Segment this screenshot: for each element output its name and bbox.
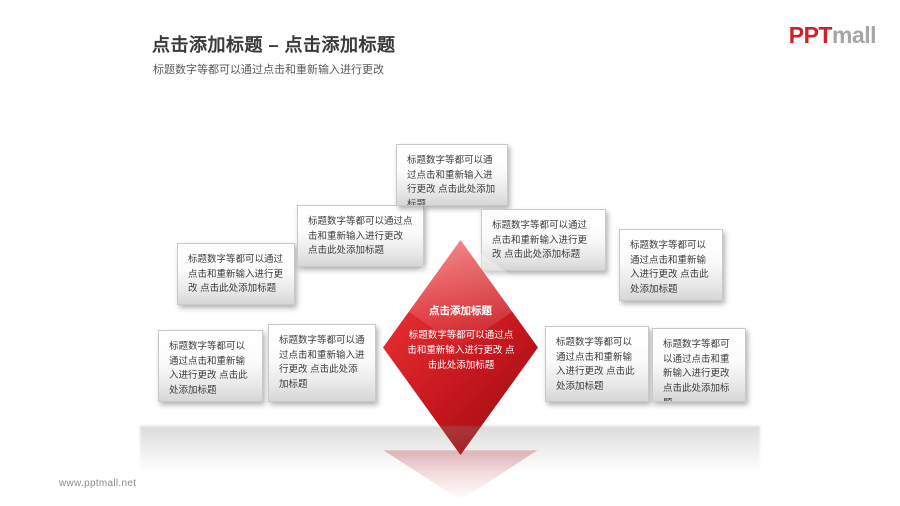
content-box-top-right-inner[interactable]: 标题数字等都可以通过点击和重新输入进行更改 点击此处添加标题 xyxy=(481,209,606,271)
content-box-top-center[interactable]: 标题数字等都可以通过点击和重新输入进行更改 点击此处添加标题 xyxy=(396,144,508,206)
logo-text-secondary: mall xyxy=(832,22,876,48)
content-box-bottom-right-inner[interactable]: 标题数字等都可以通过点击和重新输入进行更改 点击此处添加标题 xyxy=(545,326,649,402)
page-title: 点击添加标题 – 点击添加标题 xyxy=(152,31,396,57)
content-box-bottom-left-inner[interactable]: 标题数字等都可以通过点击和重新输入进行更改 点击此处添加标题 xyxy=(268,324,376,402)
content-box-bottom-left-outer[interactable]: 标题数字等都可以通过点击和重新输入进行更改 点击此处添加标题 xyxy=(158,330,263,402)
logo-text-primary: PPT xyxy=(789,22,832,48)
page-subtitle: 标题数字等都可以通过点击和重新输入进行更改 xyxy=(153,61,384,77)
content-box-text: 标题数字等都可以通过点击和重新输入进行更改 点击此处添加标题 xyxy=(407,154,498,206)
content-box-top-left-outer[interactable]: 标题数字等都可以通过点击和重新输入进行更改 点击此处添加标题 xyxy=(177,243,295,305)
center-diamond[interactable]: 点击添加标题 标题数字等都可以通过点击和重新输入进行更改 点击此处添加标题 xyxy=(383,240,538,455)
footer-url: www.pptmall.net xyxy=(59,478,136,489)
content-box-text: 标题数字等都可以通过点击和重新输入进行更改 点击此处添加标题 xyxy=(308,215,414,259)
content-box-text: 标题数字等都可以通过点击和重新输入进行更改 点击此处添加标题 xyxy=(279,334,366,393)
content-box-top-right-outer[interactable]: 标题数字等都可以通过点击和重新输入进行更改 点击此处添加标题 xyxy=(619,229,723,301)
content-box-text: 标题数字等都可以通过点击和重新输入进行更改 点击此处添加标题 xyxy=(169,340,253,399)
content-box-text: 标题数字等都可以通过点击和重新输入进行更改 点击此处添加标题 xyxy=(556,336,639,395)
content-box-text: 标题数字等都可以通过点击和重新输入进行更改 点击此处添加标题 xyxy=(492,219,596,263)
content-box-text: 标题数字等都可以通过点击和重新输入进行更改 点击此处添加标题 xyxy=(630,239,713,298)
diamond-body-text: 标题数字等都可以通过点击和重新输入进行更改 点击此处添加标题 xyxy=(407,328,515,374)
content-box-bottom-right-outer[interactable]: 标题数字等都可以通过点击和重新输入进行更改 点击此处添加标题 xyxy=(652,328,746,402)
slide-canvas: 点击添加标题 – 点击添加标题 标题数字等都可以通过点击和重新输入进行更改 PP… xyxy=(0,0,900,506)
diamond-title: 点击添加标题 xyxy=(383,303,538,318)
diamond-reflection xyxy=(383,450,538,500)
pptmall-logo: PPTmall xyxy=(789,24,876,47)
content-box-text: 标题数字等都可以通过点击和重新输入进行更改 点击此处添加标题 xyxy=(188,253,285,297)
content-box-top-left-inner[interactable]: 标题数字等都可以通过点击和重新输入进行更改 点击此处添加标题 xyxy=(297,205,424,267)
content-box-text: 标题数字等都可以通过点击和重新输入进行更改 点击此处添加标题 xyxy=(663,338,736,402)
